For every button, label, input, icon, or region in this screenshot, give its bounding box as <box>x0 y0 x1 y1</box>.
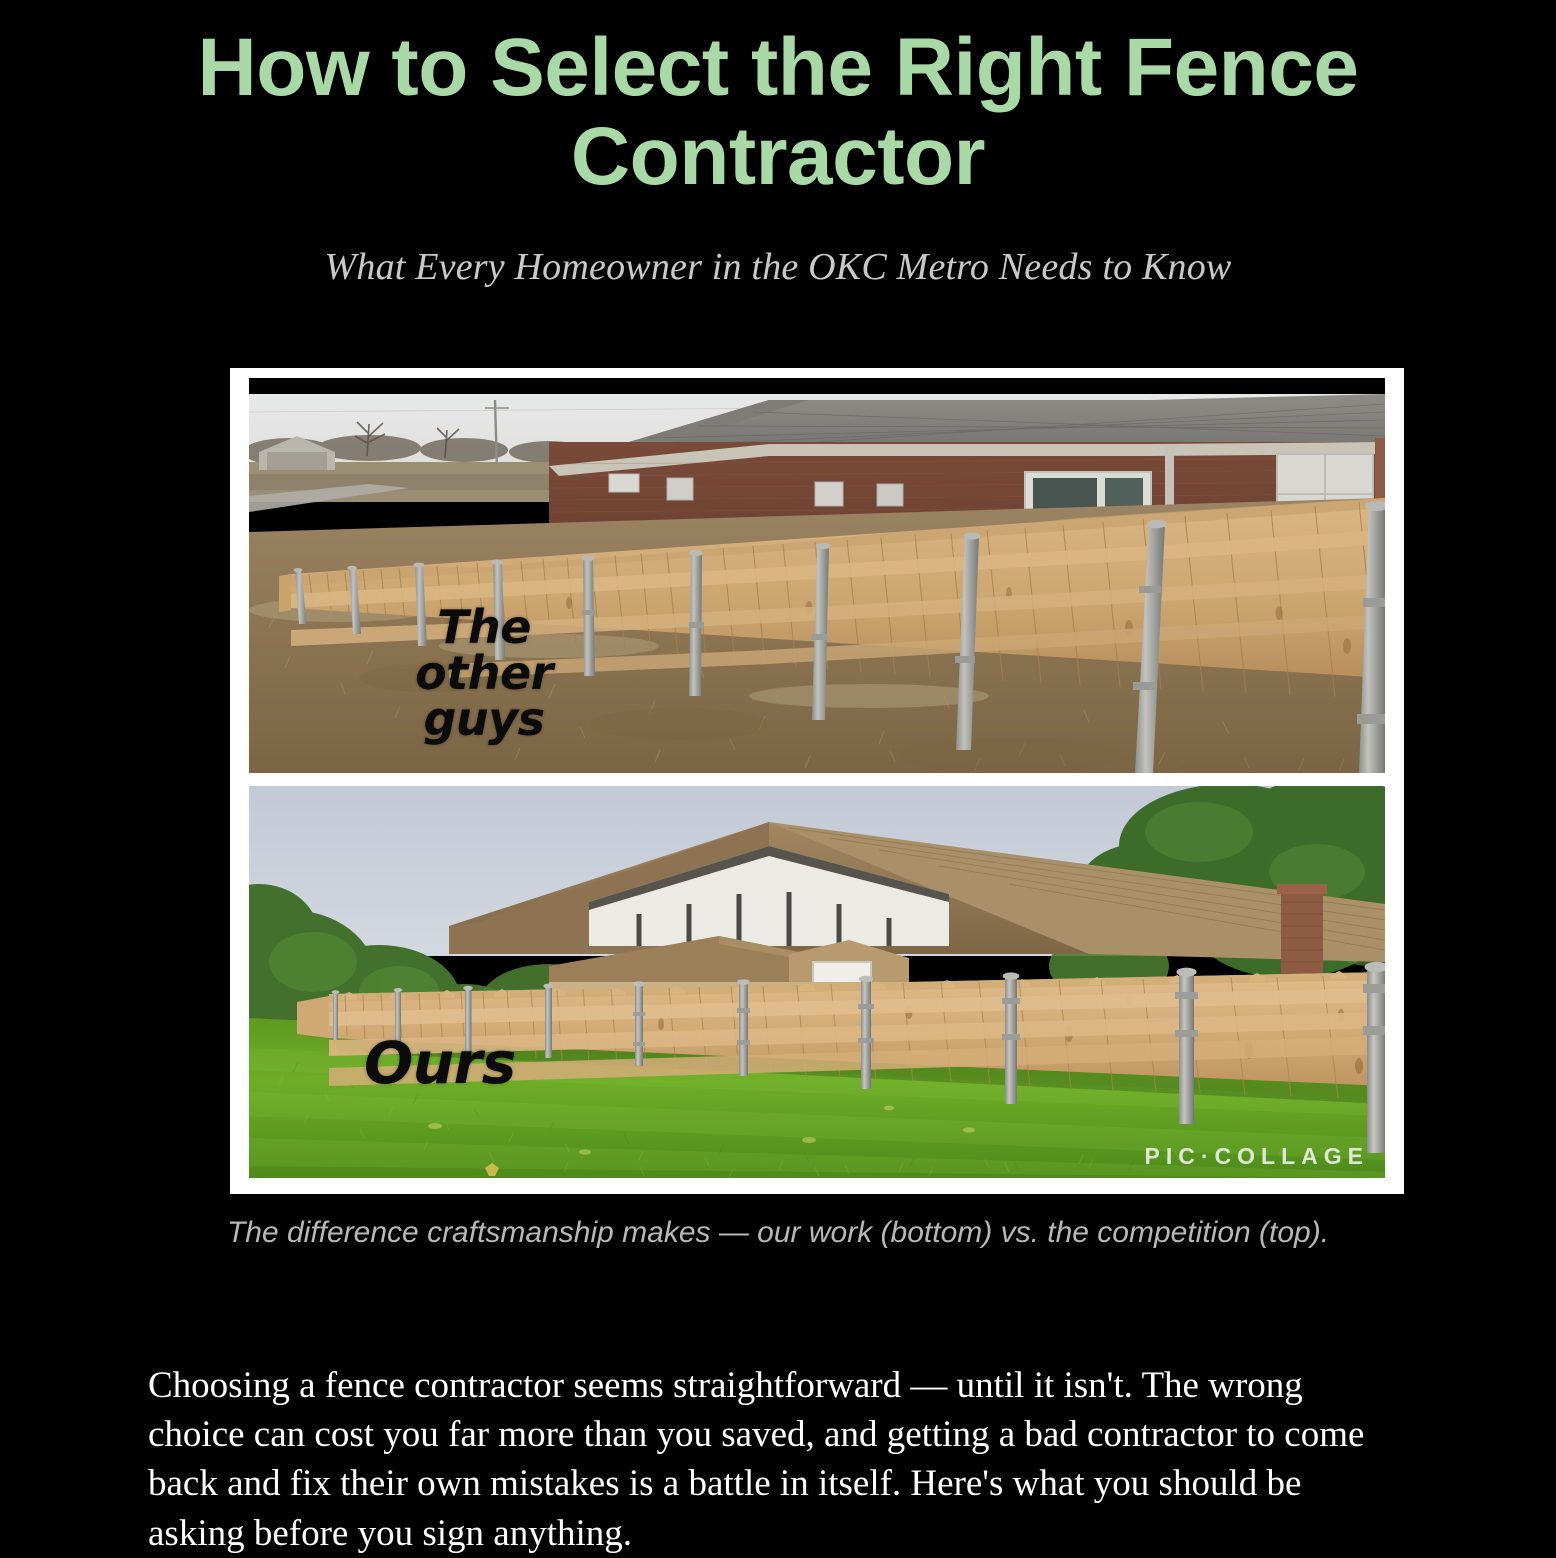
photo-other-guys-illustration <box>249 378 1385 773</box>
page-subtitle: What Every Homeowner in the OKC Metro Ne… <box>0 201 1556 289</box>
page-title: How to Select the Right Fence Contractor <box>0 0 1556 201</box>
photo-top-black-bar <box>249 378 1385 394</box>
article-page: How to Select the Right Fence Contractor… <box>0 0 1556 1539</box>
photo-ours: Ours PIC·COLLAGE <box>249 786 1385 1178</box>
comparison-figure: The other guys <box>230 368 1404 1194</box>
intro-paragraph: Choosing a fence contractor seems straig… <box>148 1361 1388 1558</box>
figure-caption: The difference craftsmanship makes — our… <box>0 1216 1556 1250</box>
photo-other-guys: The other guys <box>249 378 1385 773</box>
photo-stack: The other guys <box>249 378 1385 1178</box>
photo-ours-illustration <box>249 786 1385 1178</box>
